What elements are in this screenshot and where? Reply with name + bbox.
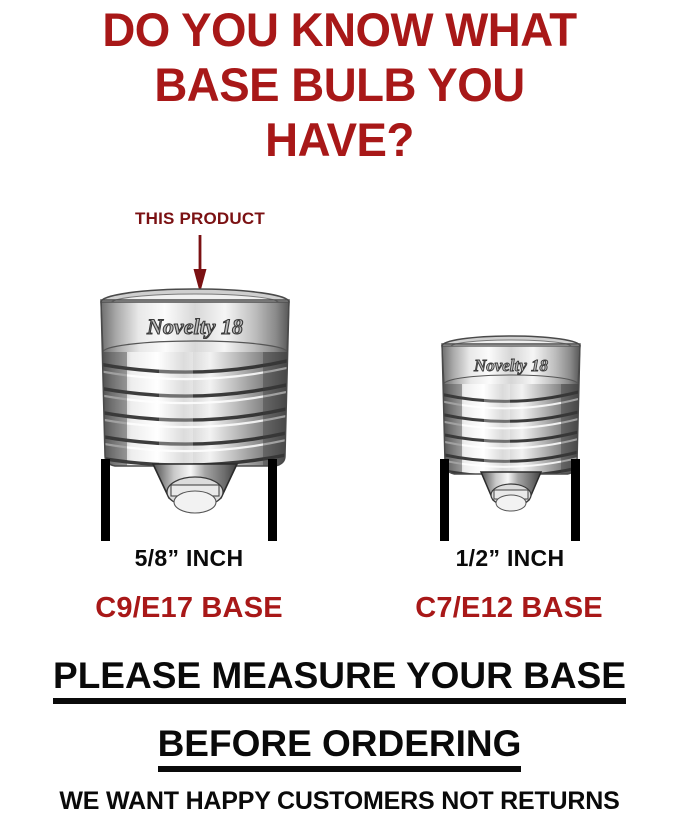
page-headline: DO YOU KNOW WHAT BASE BULB YOU HAVE? — [10, 2, 669, 167]
measure-tick-large-right — [268, 459, 277, 541]
base-label-large: C9/E17 BASE — [48, 592, 330, 625]
measurement-label-large: 5/8” INCH — [78, 545, 300, 572]
instruction-line-1-text: PLEASE MEASURE YOUR BASE — [53, 655, 626, 704]
measure-tick-small-left — [440, 459, 449, 541]
instruction-line-3: WE WANT HAPPY CUSTOMERS NOT RETURNS — [0, 787, 679, 816]
emboss-text-small: Novelty 18 — [473, 356, 549, 375]
instruction-line-1: PLEASE MEASURE YOUR BASE — [0, 655, 679, 704]
measure-tick-small-right — [571, 459, 580, 541]
down-arrow-icon — [193, 235, 207, 293]
headline-line-1: DO YOU KNOW WHAT — [10, 2, 669, 57]
bulb-base-large-c9e17: Novelty 18 — [95, 286, 295, 526]
headline-line-3: HAVE? — [10, 112, 669, 167]
instruction-line-2-text: BEFORE ORDERING — [158, 723, 522, 772]
bulb-base-small-c7e12: Novelty 18 — [437, 332, 585, 528]
base-label-small: C7/E12 BASE — [368, 592, 650, 625]
measurement-label-small: 1/2” INCH — [414, 545, 606, 572]
instruction-line-2: BEFORE ORDERING — [0, 723, 679, 772]
measure-tick-large-left — [101, 459, 110, 541]
headline-line-2: BASE BULB YOU — [10, 57, 669, 112]
emboss-text-large: Novelty 18 — [146, 314, 243, 339]
this-product-callout-label: THIS PRODUCT — [0, 209, 400, 229]
